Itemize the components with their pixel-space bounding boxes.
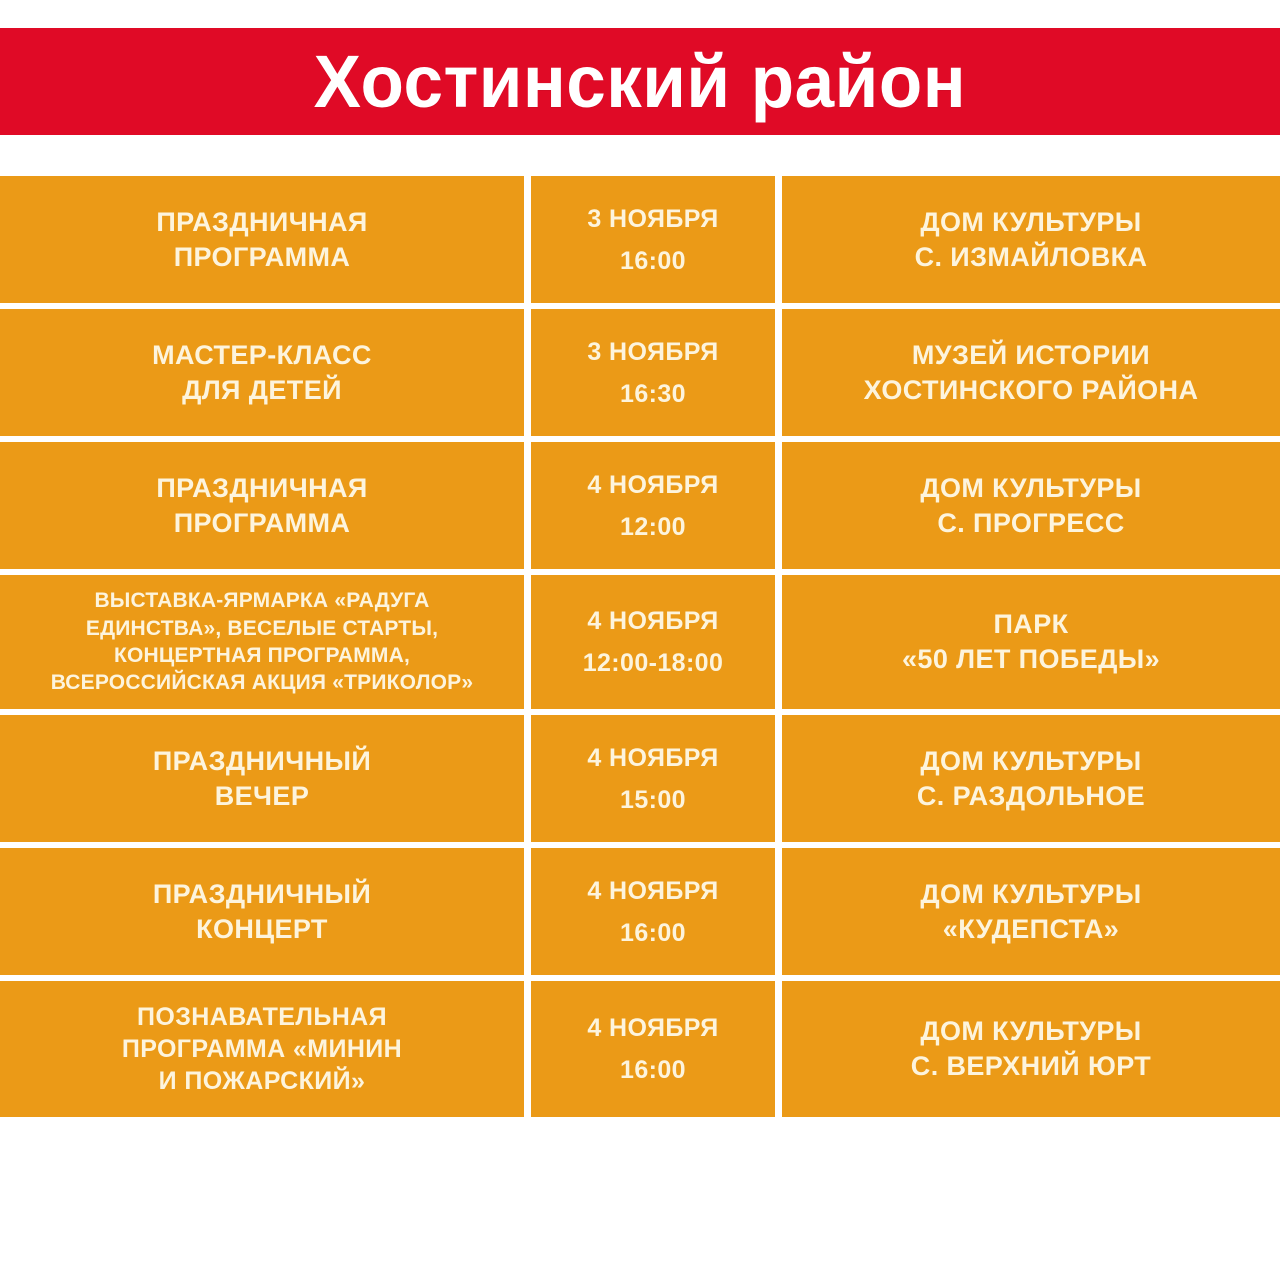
venue-line: С. ВЕРХНИЙ ЮРТ [792,1049,1270,1084]
poster-page: Хостинский район ПРАЗДНИЧНАЯ ПРОГРАММА 3… [0,0,1280,1280]
table-row: ПРАЗДНИЧНАЯ ПРОГРАММА 3 НОЯБРЯ 16:00 ДОМ… [0,176,1280,303]
event-line: КОНЦЕРТ [10,912,514,947]
header-banner: Хостинский район [0,28,1280,135]
page-title: Хостинский район [314,45,967,119]
date-cell: 3 НОЯБРЯ 16:00 [531,176,775,303]
event-line: ДЛЯ ДЕТЕЙ [10,373,514,408]
table-row: МАСТЕР-КЛАСС ДЛЯ ДЕТЕЙ 3 НОЯБРЯ 16:30 МУ… [0,309,1280,436]
event-cell: ПРАЗДНИЧНАЯ ПРОГРАММА [0,442,524,569]
event-cell: МАСТЕР-КЛАСС ДЛЯ ДЕТЕЙ [0,309,524,436]
table-row: ПРАЗДНИЧНЫЙ КОНЦЕРТ 4 НОЯБРЯ 16:00 ДОМ К… [0,848,1280,975]
date-cell: 4 НОЯБРЯ 16:00 [531,981,775,1117]
event-cell: ПРАЗДНИЧНЫЙ ВЕЧЕР [0,715,524,842]
venue-line: ПАРК [792,607,1270,642]
venue-line: ДОМ КУЛЬТУРЫ [792,205,1270,240]
table-row: ПОЗНАВАТЕЛЬНАЯ ПРОГРАММА «МИНИН И ПОЖАРС… [0,981,1280,1117]
event-line: ПОЗНАВАТЕЛЬНАЯ [10,1001,514,1033]
event-line: ПРОГРАММА [10,506,514,541]
event-line: И ПОЖАРСКИЙ» [10,1065,514,1097]
venue-line: С. ИЗМАЙЛОВКА [792,240,1270,275]
venue-line: ДОМ КУЛЬТУРЫ [792,877,1270,912]
venue-line: ДОМ КУЛЬТУРЫ [792,744,1270,779]
event-line: КОНЦЕРТНАЯ ПРОГРАММА, [10,642,514,669]
event-line: ПРАЗДНИЧНЫЙ [10,744,514,779]
venue-line: ДОМ КУЛЬТУРЫ [792,1014,1270,1049]
venue-cell: ПАРК «50 ЛЕТ ПОБЕДЫ» [782,575,1280,709]
time-value: 12:00 [541,511,765,543]
date-value: 4 НОЯБРЯ [541,875,765,907]
date-cell: 3 НОЯБРЯ 16:30 [531,309,775,436]
event-line: ПРАЗДНИЧНАЯ [10,471,514,506]
venue-line: ДОМ КУЛЬТУРЫ [792,471,1270,506]
time-value: 15:00 [541,784,765,816]
venue-cell: ДОМ КУЛЬТУРЫ С. ВЕРХНИЙ ЮРТ [782,981,1280,1117]
venue-line: «КУДЕПСТА» [792,912,1270,947]
event-line: ВСЕРОССИЙСКАЯ АКЦИЯ «ТРИКОЛОР» [10,669,514,696]
table-row: ВЫСТАВКА-ЯРМАРКА «РАДУГА ЕДИНСТВА», ВЕСЕ… [0,575,1280,709]
venue-line: С. ПРОГРЕСС [792,506,1270,541]
event-line: ПРАЗДНИЧНАЯ [10,205,514,240]
date-cell: 4 НОЯБРЯ 15:00 [531,715,775,842]
time-value: 16:00 [541,1054,765,1086]
date-value: 3 НОЯБРЯ [541,336,765,368]
event-line: ПРОГРАММА [10,240,514,275]
event-line: ВЕЧЕР [10,779,514,814]
venue-cell: ДОМ КУЛЬТУРЫ С. ПРОГРЕСС [782,442,1280,569]
time-value: 16:00 [541,245,765,277]
venue-cell: МУЗЕЙ ИСТОРИИ ХОСТИНСКОГО РАЙОНА [782,309,1280,436]
event-cell: ПРАЗДНИЧНЫЙ КОНЦЕРТ [0,848,524,975]
venue-line: МУЗЕЙ ИСТОРИИ [792,338,1270,373]
date-value: 4 НОЯБРЯ [541,1012,765,1044]
event-cell: ВЫСТАВКА-ЯРМАРКА «РАДУГА ЕДИНСТВА», ВЕСЕ… [0,575,524,709]
venue-cell: ДОМ КУЛЬТУРЫ С. РАЗДОЛЬНОЕ [782,715,1280,842]
time-value: 12:00-18:00 [541,647,765,679]
event-line: ЕДИНСТВА», ВЕСЕЛЫЕ СТАРТЫ, [10,615,514,642]
time-value: 16:30 [541,378,765,410]
date-value: 4 НОЯБРЯ [541,469,765,501]
event-line: ВЫСТАВКА-ЯРМАРКА «РАДУГА [10,587,514,614]
time-value: 16:00 [541,917,765,949]
event-cell: ПРАЗДНИЧНАЯ ПРОГРАММА [0,176,524,303]
event-line: ПРОГРАММА «МИНИН [10,1033,514,1065]
event-line: МАСТЕР-КЛАСС [10,338,514,373]
venue-line: С. РАЗДОЛЬНОЕ [792,779,1270,814]
date-value: 3 НОЯБРЯ [541,203,765,235]
table-row: ПРАЗДНИЧНАЯ ПРОГРАММА 4 НОЯБРЯ 12:00 ДОМ… [0,442,1280,569]
table-row: ПРАЗДНИЧНЫЙ ВЕЧЕР 4 НОЯБРЯ 15:00 ДОМ КУЛ… [0,715,1280,842]
date-cell: 4 НОЯБРЯ 12:00-18:00 [531,575,775,709]
event-line: ПРАЗДНИЧНЫЙ [10,877,514,912]
date-value: 4 НОЯБРЯ [541,605,765,637]
date-value: 4 НОЯБРЯ [541,742,765,774]
date-cell: 4 НОЯБРЯ 12:00 [531,442,775,569]
venue-line: «50 ЛЕТ ПОБЕДЫ» [792,642,1270,677]
venue-cell: ДОМ КУЛЬТУРЫ «КУДЕПСТА» [782,848,1280,975]
date-cell: 4 НОЯБРЯ 16:00 [531,848,775,975]
venue-cell: ДОМ КУЛЬТУРЫ С. ИЗМАЙЛОВКА [782,176,1280,303]
event-cell: ПОЗНАВАТЕЛЬНАЯ ПРОГРАММА «МИНИН И ПОЖАРС… [0,981,524,1117]
venue-line: ХОСТИНСКОГО РАЙОНА [792,373,1270,408]
schedule-table: ПРАЗДНИЧНАЯ ПРОГРАММА 3 НОЯБРЯ 16:00 ДОМ… [0,176,1280,1117]
